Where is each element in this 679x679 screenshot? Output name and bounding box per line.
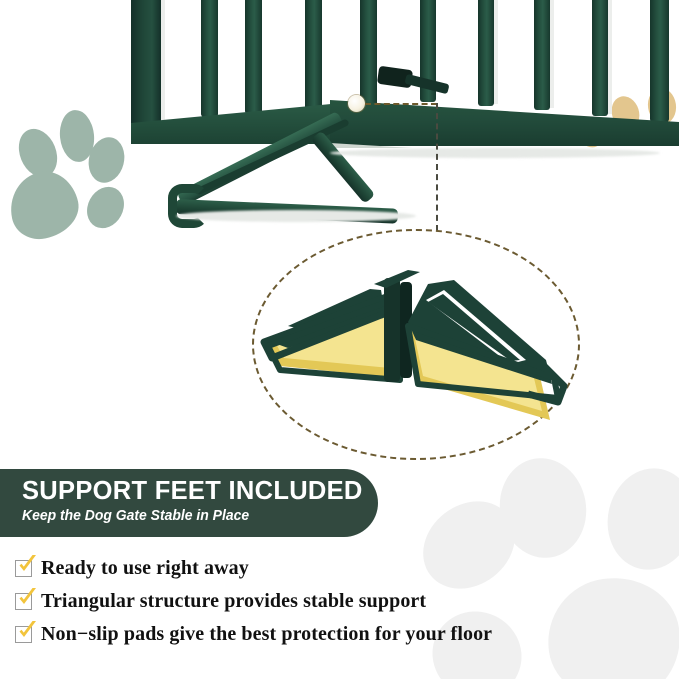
adjustment-knob [348,95,365,112]
banner-subtitle: Keep the Dog Gate Stable in Place [22,506,353,526]
feature-item: Non−slip pads give the best protection f… [15,618,655,651]
floor-shadow [330,148,660,158]
marketing-image: SUPPORT FEET INCLUDED Keep the Dog Gate … [0,0,679,679]
banner-title: SUPPORT FEET INCLUDED [22,476,378,506]
support-feet-detail-illustration [258,248,578,438]
checkbox-checked-icon [15,593,32,610]
feature-label: Triangular structure provides stable sup… [41,590,426,613]
slat-highlight [550,0,554,108]
gate-slat [201,0,218,117]
gate-slat [592,0,608,116]
slat-highlight [494,0,498,104]
gate-slat [245,0,262,114]
gate-slat [305,0,322,111]
slat-highlight [608,0,612,114]
paw-print-toe [80,180,131,234]
checkbox-checked-icon [15,560,32,577]
slat-highlight [161,0,165,124]
headline-banner: SUPPORT FEET INCLUDED Keep the Dog Gate … [0,469,378,537]
feature-label: Non−slip pads give the best protection f… [41,623,492,646]
gate-slat [360,0,377,106]
support-foot-apex [168,184,208,228]
gate-slat [650,0,669,122]
gate-post [131,0,161,129]
callout-leader-vertical [436,103,438,231]
feature-item: Triangular structure provides stable sup… [15,585,655,618]
paw-print-pad [4,166,84,245]
floor-shadow [176,210,416,222]
feature-label: Ready to use right away [41,557,249,580]
gate-slat [534,0,550,110]
feature-item: Ready to use right away [15,552,655,585]
gate-slat [478,0,494,106]
feature-list: Ready to use right away Triangular struc… [15,552,655,651]
callout-leader-horizontal [365,103,437,105]
product-photo [0,0,679,470]
checkbox-checked-icon [15,626,32,643]
